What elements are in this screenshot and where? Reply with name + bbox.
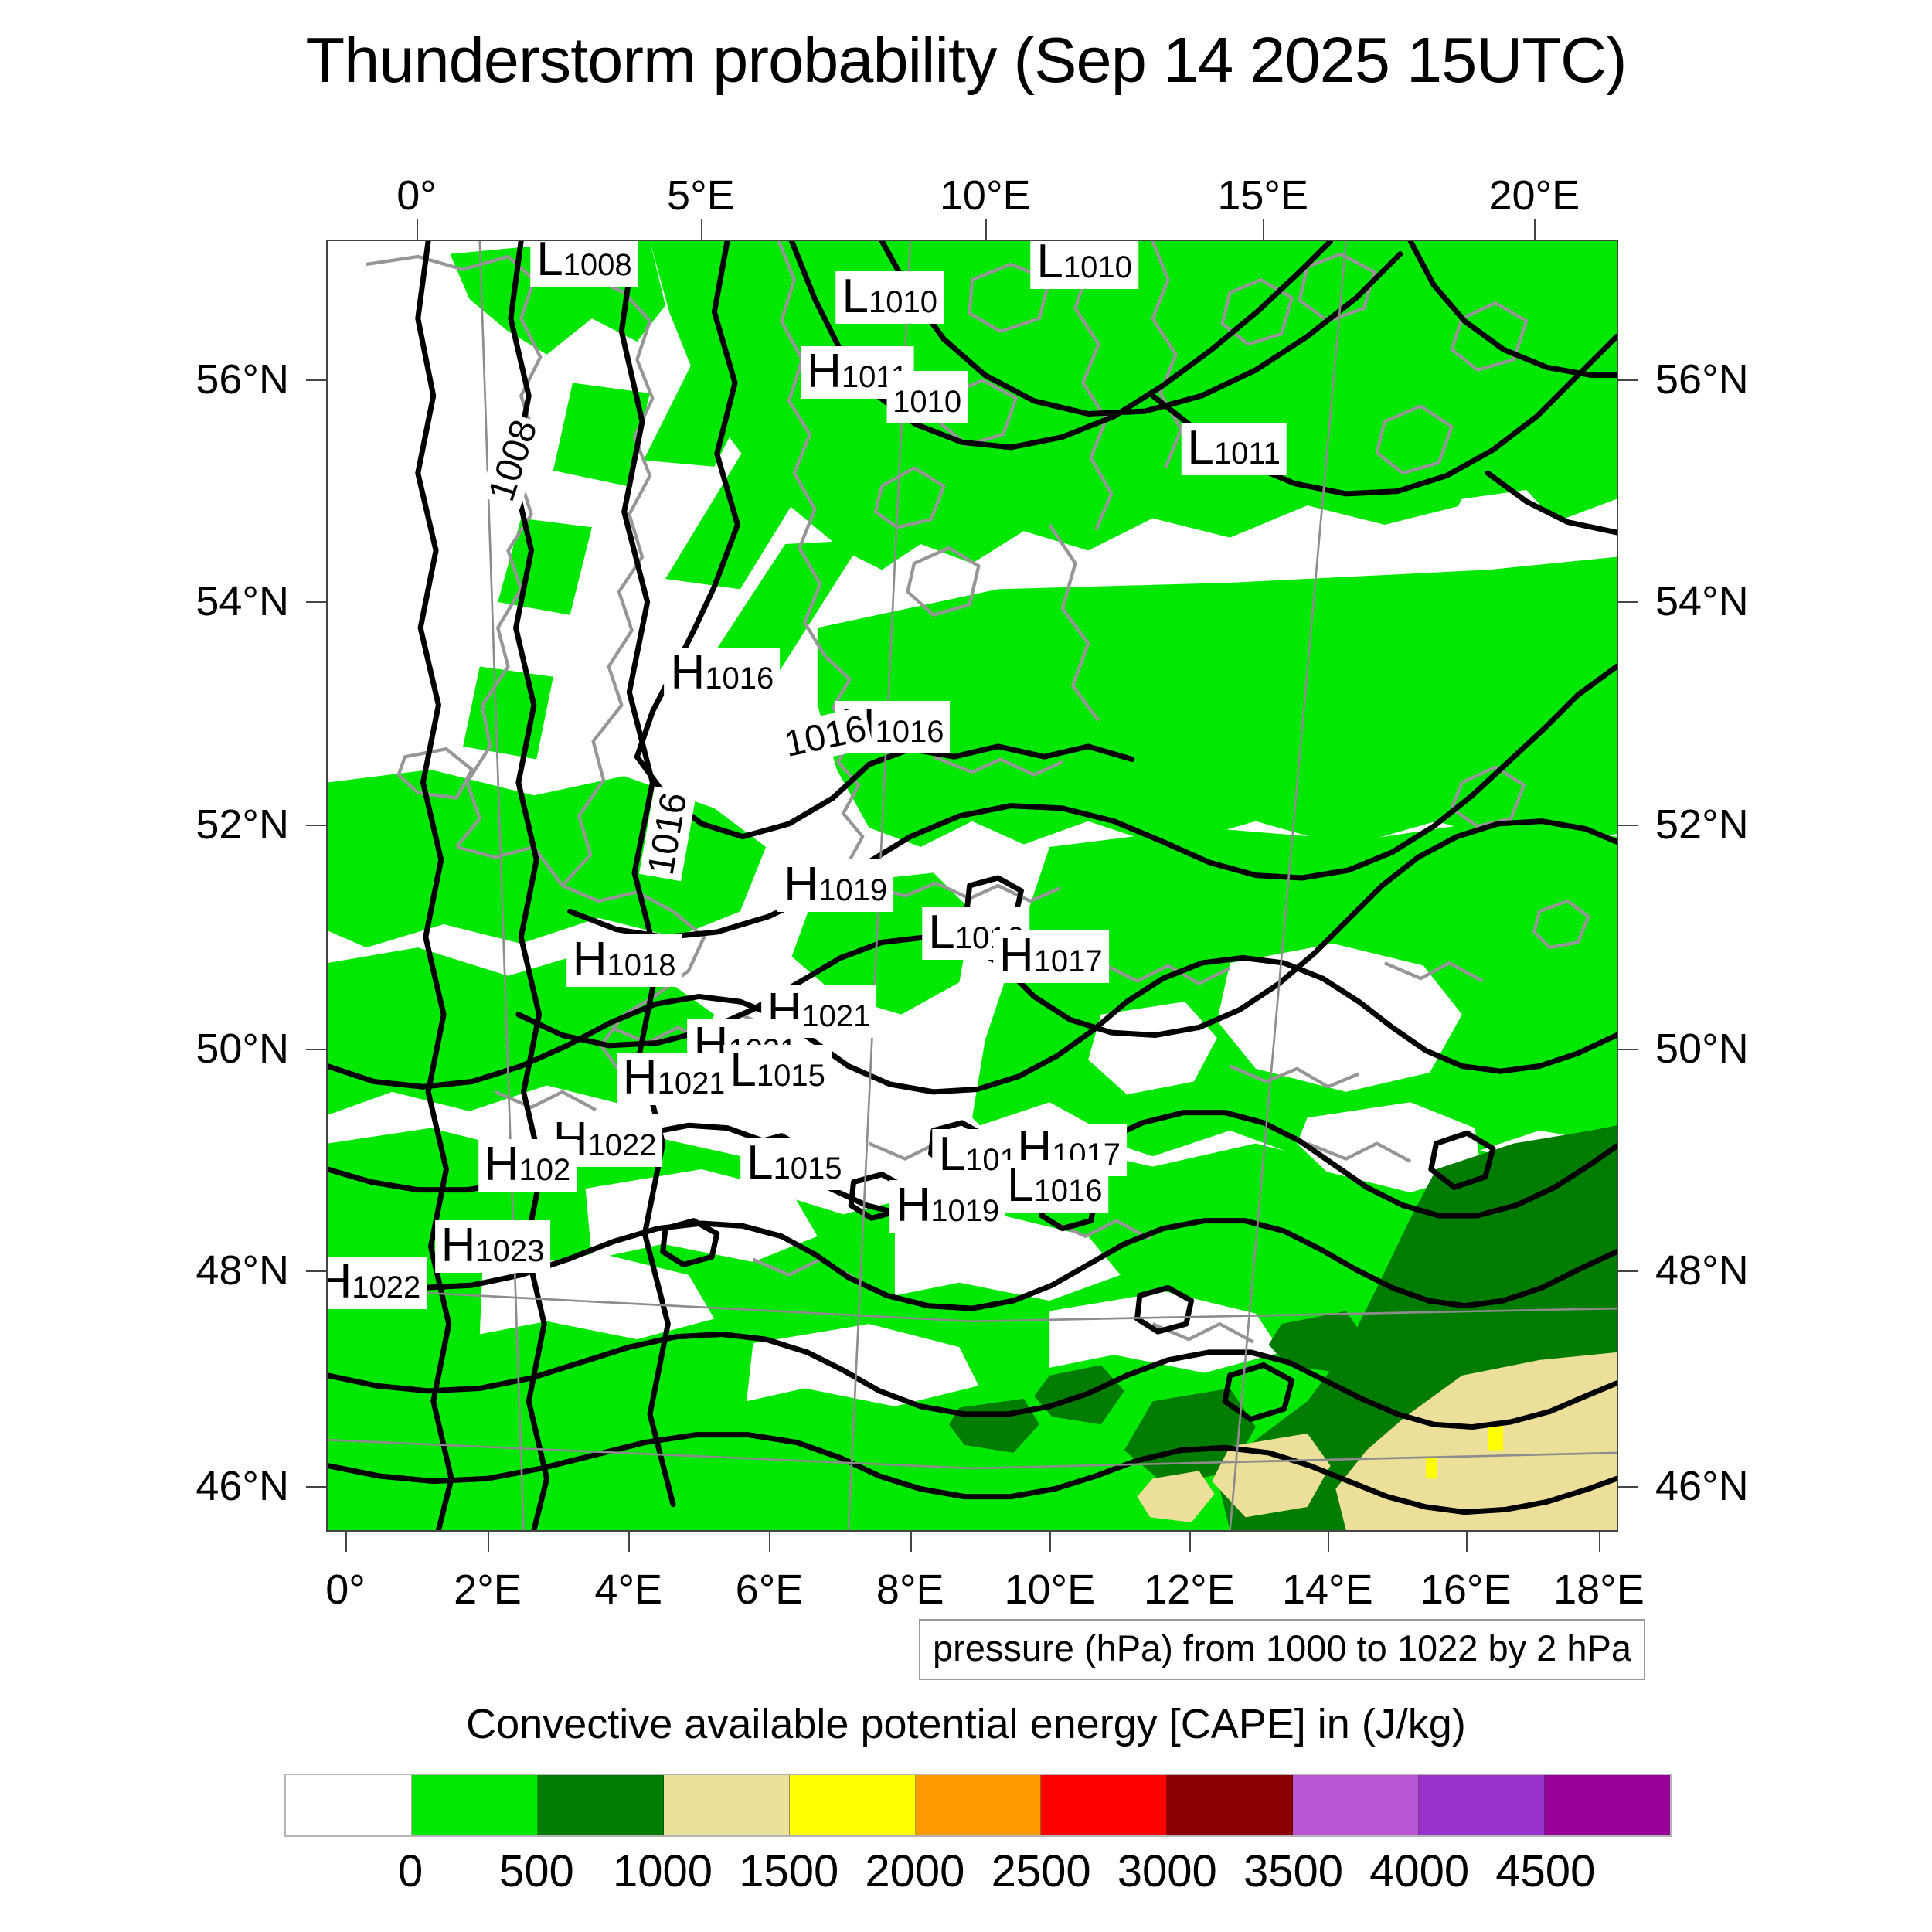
axis-label-20E: 20°E — [1488, 172, 1580, 219]
colorbar-segment-1[interactable] — [412, 1775, 538, 1835]
page-title: Thunderstorm probability (Sep 14 2025 15… — [0, 23, 1932, 97]
axis-tick — [417, 219, 418, 240]
axis-label-14E: 14°E — [1282, 1566, 1373, 1614]
pressure-center-type: H — [896, 1179, 930, 1232]
weather-map-page: Thunderstorm probability (Sep 14 2025 15… — [0, 0, 1932, 1932]
colorbar-tick-4000: 4000 — [1369, 1845, 1469, 1897]
axis-tick — [701, 219, 702, 240]
axis-tick — [769, 1532, 770, 1552]
pressure-center-type: L — [747, 1136, 773, 1189]
colorbar-segment-6[interactable] — [1041, 1775, 1167, 1835]
axis-tick — [1618, 1486, 1638, 1488]
pressure-center-value: 1019 — [818, 873, 887, 907]
pressure-center-type: L — [928, 906, 954, 959]
pressure-center-type: L — [842, 270, 869, 323]
pressure-center-l-1015: L1015 — [740, 1138, 848, 1190]
axis-label-56N: 56°N — [196, 355, 289, 403]
colorbar[interactable] — [284, 1774, 1672, 1837]
pressure-center-type: L — [1007, 1158, 1033, 1212]
axis-label-12E: 12°E — [1144, 1566, 1235, 1614]
axis-label-48N: 48°N — [1655, 1247, 1749, 1294]
axis-tick — [1534, 219, 1536, 240]
axis-label-46N: 46°N — [196, 1462, 289, 1510]
pressure-center-value: 1018 — [607, 948, 676, 982]
colorbar-tick-1500: 1500 — [739, 1845, 838, 1897]
axis-label-48N: 48°N — [196, 1247, 289, 1294]
colorbar-tick-3000: 3000 — [1117, 1845, 1217, 1897]
colorbar-tick-500: 500 — [499, 1845, 574, 1897]
axis-tick — [488, 1532, 489, 1552]
pressure-center-value: 1010 — [869, 285, 937, 319]
pressure-center-x-1010: 1010 — [886, 371, 968, 423]
pressure-center-h-102: H102 — [478, 1139, 577, 1192]
axis-label-4E: 4°E — [594, 1566, 662, 1614]
pressure-center-value: 1008 — [563, 248, 632, 282]
pressure-center-type: L — [939, 1128, 965, 1181]
axis-tick — [306, 1270, 326, 1272]
map-plot-area[interactable]: L1008L1010L1010H10111010L1011H1016H1016H… — [326, 240, 1618, 1532]
axis-label-54N: 54°N — [1655, 577, 1749, 625]
pressure-center-h-1022: H1022 — [326, 1257, 427, 1309]
axis-label-52N: 52°N — [196, 801, 289, 849]
colorbar-tick-4500: 4500 — [1495, 1845, 1595, 1897]
pressure-center-type: H — [623, 1051, 658, 1104]
axis-label-54N: 54°N — [196, 577, 289, 625]
axis-label-8E: 8°E — [876, 1566, 944, 1614]
colorbar-segment-4[interactable] — [790, 1775, 916, 1835]
axis-tick — [1263, 219, 1264, 240]
axis-tick — [306, 601, 326, 603]
pressure-legend: pressure (hPa) from 1000 to 1022 by 2 hP… — [919, 1619, 1645, 1680]
axis-label-6E: 6°E — [736, 1566, 804, 1614]
colorbar-title: Convective available potential energy [C… — [0, 1700, 1932, 1748]
pressure-center-h-1019: H1019 — [777, 859, 893, 912]
axis-label-10E: 10°E — [940, 172, 1031, 219]
pressure-center-value: 1021 — [801, 999, 870, 1033]
colorbar-segment-7[interactable] — [1167, 1775, 1293, 1835]
pressure-center-type: L — [1187, 421, 1213, 474]
pressure-center-type: H — [807, 345, 842, 398]
pressure-center-type: H — [573, 933, 607, 986]
axis-tick — [1618, 1049, 1638, 1050]
axis-tick — [910, 1532, 912, 1552]
axis-tick — [1618, 601, 1638, 603]
pressure-center-type: L — [536, 240, 563, 286]
axis-label-56N: 56°N — [1655, 355, 1749, 403]
pressure-center-h-1021: H1021 — [617, 1053, 733, 1105]
pressure-center-type: H — [784, 858, 818, 911]
axis-label-50N: 50°N — [196, 1025, 289, 1073]
axis-tick — [306, 1486, 326, 1488]
pressure-center-value: 1010 — [893, 385, 961, 419]
axis-label-50N: 50°N — [1655, 1025, 1749, 1073]
axis-tick — [1466, 1532, 1468, 1552]
axis-label-0: 0° — [325, 1566, 366, 1614]
axis-tick — [306, 379, 326, 381]
axis-tick — [306, 1049, 326, 1050]
pressure-center-l-1011: L1011 — [1181, 423, 1287, 475]
pressure-center-value: 1019 — [930, 1194, 999, 1228]
axis-tick — [1328, 1532, 1329, 1552]
pressure-center-type: H — [999, 929, 1034, 982]
axis-tick — [1049, 1532, 1051, 1552]
colorbar-segment-2[interactable] — [538, 1775, 664, 1835]
pressure-center-l-1010: L1010 — [1030, 240, 1138, 289]
axis-tick — [1189, 1532, 1191, 1552]
axis-label-2E: 2°E — [454, 1566, 522, 1614]
axis-tick — [306, 825, 326, 826]
axis-label-52N: 52°N — [1655, 801, 1749, 849]
pressure-center-value: 1021 — [658, 1066, 726, 1100]
axis-tick — [628, 1532, 630, 1552]
pressure-center-type: H — [671, 646, 706, 699]
colorbar-tick-2500: 2500 — [992, 1845, 1091, 1897]
colorbar-tick-3500: 3500 — [1243, 1845, 1343, 1897]
pressure-center-h-1016: H1016 — [665, 648, 781, 700]
axis-label-46N: 46°N — [1655, 1462, 1749, 1510]
axis-tick — [1618, 1270, 1638, 1272]
pressure-center-l-1016: L1016 — [1001, 1160, 1108, 1213]
pressure-center-value: 1015 — [774, 1151, 842, 1185]
axis-label-18E: 18°E — [1553, 1566, 1645, 1614]
pressure-center-value: 1016 — [1034, 1174, 1103, 1208]
colorbar-tick-1000: 1000 — [613, 1845, 713, 1897]
colorbar-segment-5[interactable] — [916, 1775, 1042, 1835]
pressure-center-value: 1022 — [352, 1270, 420, 1304]
pressure-center-h-1023: H1023 — [435, 1220, 551, 1273]
pressure-center-value: 1016 — [875, 715, 944, 749]
pressure-center-l-1008: L1008 — [530, 240, 638, 287]
colorbar-segment-8[interactable] — [1293, 1775, 1419, 1835]
axis-tick — [1618, 825, 1638, 826]
pressure-center-value: 1017 — [1034, 944, 1103, 978]
axis-tick — [345, 1532, 347, 1552]
pressure-center-type: H — [441, 1219, 476, 1272]
pressure-center-l-1010: L1010 — [836, 271, 944, 324]
axis-tick — [1618, 379, 1638, 381]
pressure-center-value: 1022 — [588, 1128, 657, 1162]
axis-label-10E: 10°E — [1004, 1566, 1095, 1614]
colorbar-segment-0[interactable] — [286, 1775, 412, 1835]
pressure-center-value: 1023 — [475, 1234, 544, 1268]
pressure-center-type: H — [485, 1138, 519, 1191]
axis-tick — [1599, 1532, 1600, 1552]
pressure-center-value: 1010 — [1063, 250, 1132, 284]
pressure-center-value: 1015 — [757, 1059, 825, 1093]
pressure-center-h-1017: H1017 — [993, 930, 1109, 983]
pressure-center-value: 1011 — [1214, 437, 1281, 471]
axis-label-15E: 15°E — [1217, 172, 1308, 219]
colorbar-tick-2000: 2000 — [865, 1845, 964, 1897]
colorbar-segment-10[interactable] — [1545, 1775, 1670, 1835]
axis-label-5E: 5°E — [667, 172, 735, 219]
colorbar-tick-labels: 050010001500200025003000350040004500 — [284, 1845, 1672, 1900]
pressure-center-value: 102 — [519, 1153, 571, 1187]
pressure-center-h-1018: H1018 — [566, 934, 682, 987]
axis-label-16E: 16°E — [1420, 1566, 1512, 1614]
colorbar-segment-9[interactable] — [1419, 1775, 1545, 1835]
axis-label-0: 0° — [396, 172, 437, 219]
pressure-center-type: H — [326, 1255, 352, 1308]
axis-tick — [985, 219, 987, 240]
pressure-center-value: 1016 — [705, 662, 774, 696]
pressure-center-type: L — [730, 1043, 756, 1097]
colorbar-tick-0: 0 — [398, 1845, 423, 1897]
colorbar-segment-3[interactable] — [664, 1775, 790, 1835]
pressure-center-h-1019: H1019 — [889, 1180, 1005, 1233]
pressure-center-type: L — [1036, 240, 1063, 288]
pressure-center-l-1015: L1015 — [723, 1045, 831, 1097]
